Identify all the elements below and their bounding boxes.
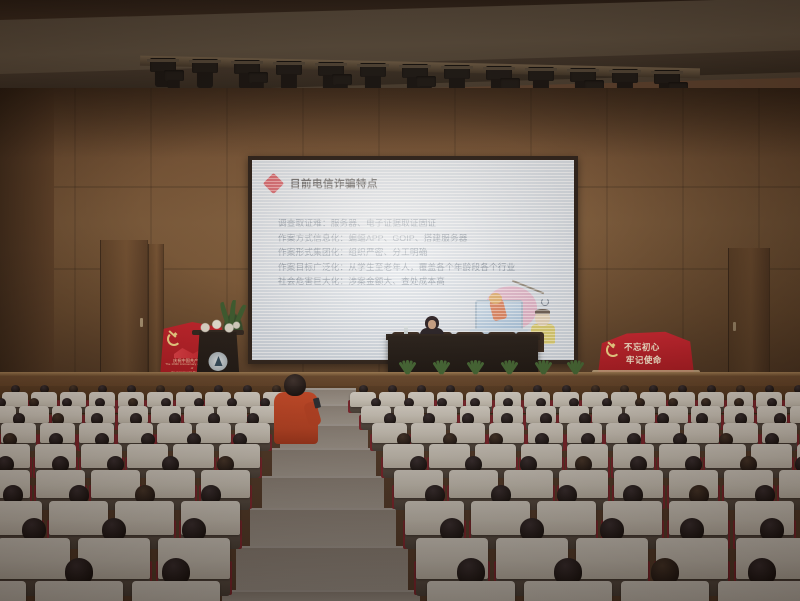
- stage-light-2: [192, 59, 218, 73]
- cartoon-thief-hair: [489, 293, 502, 304]
- slide-title: 目前电信诈骗特点: [290, 176, 378, 191]
- stage-light-6: [360, 63, 386, 77]
- cartoon-victim-hair: [535, 309, 550, 314]
- school-emblem-icon: [209, 352, 228, 371]
- banner-line-1: 不忘初心: [624, 341, 660, 353]
- projection-screen: 目前电信诈骗特点 调查取证难：服务器、电子证据取证固证作案方式信息化：蝙蝠APP…: [252, 160, 574, 360]
- aisle-step-6: [250, 508, 396, 546]
- seat-cover[interactable]: [779, 470, 800, 498]
- stage-light-12: [612, 69, 638, 83]
- podium-flowers: [196, 318, 242, 334]
- seat-cover[interactable]: [173, 444, 214, 468]
- cartoon-hook-icon: [541, 298, 549, 306]
- seat-cover[interactable]: [35, 581, 123, 601]
- aisle-step-4: [272, 448, 376, 476]
- seat-cover[interactable]: [684, 423, 719, 443]
- standing-attendee-head: [284, 374, 306, 396]
- seat-cover[interactable]: [411, 423, 446, 443]
- auditorium-photo: 目前电信诈骗特点 调查取证难：服务器、电子证据取证固证作案方式信息化：蝙蝠APP…: [0, 0, 800, 601]
- hammer-sickle-icon-banner: [605, 342, 617, 354]
- aisle-step-edge-7: [236, 546, 408, 548]
- slide-line-1: 调查取证难：服务器、电子证据取证固证: [278, 216, 564, 231]
- stage-light-10: [528, 67, 554, 81]
- stage-light-8: [444, 65, 470, 79]
- seat-cover[interactable]: [524, 581, 612, 601]
- seat-cover[interactable]: [0, 538, 70, 579]
- seat-cover[interactable]: [91, 470, 140, 498]
- stage-light-4: [276, 61, 302, 75]
- seat-cover[interactable]: [394, 406, 424, 423]
- slide-bullet-diamond-icon: [263, 173, 284, 194]
- stage-light-lower-1: [164, 70, 184, 81]
- seat-cover[interactable]: [196, 423, 231, 443]
- standing-attendee: [272, 374, 320, 452]
- seat-cover[interactable]: [0, 581, 26, 601]
- seat-cover[interactable]: [790, 406, 800, 423]
- slide-line-3: 作案形式集团化：组织严密、分工明确: [278, 245, 564, 260]
- stage-light-lower-3: [248, 72, 268, 83]
- stage-edge-plant-5: [534, 358, 550, 374]
- slide-line-2: 作案方式信息化：蝙蝠APP、GOIP、搭建服务器: [278, 231, 564, 246]
- seat-cover[interactable]: [427, 581, 515, 601]
- seat-cover[interactable]: [379, 392, 405, 407]
- stage-edge-plant-3: [466, 358, 482, 374]
- seat-cover[interactable]: [785, 392, 800, 407]
- seat-cover[interactable]: [132, 581, 220, 601]
- seat-cover[interactable]: [751, 444, 792, 468]
- slide-line-4: 作案目标广泛化：从学生至老年人，覆盖各个年龄段各个行业: [278, 260, 564, 275]
- stage-edge-plant-6: [566, 358, 582, 374]
- hammer-sickle-icon: [166, 331, 179, 344]
- seat-cover[interactable]: [234, 392, 260, 407]
- seat-cover[interactable]: [217, 406, 247, 423]
- aisle-step-5: [262, 476, 384, 508]
- banner-line-2: 牢记使命: [626, 354, 662, 366]
- seat-cover[interactable]: [429, 444, 470, 468]
- stage-light-lower-7: [416, 76, 436, 87]
- seat-cover[interactable]: [611, 392, 637, 407]
- seat-cover[interactable]: [504, 470, 553, 498]
- slide-body-text: 调查取证难：服务器、电子证据取证固证作案方式信息化：蝙蝠APP、GOIP、搭建服…: [278, 216, 564, 289]
- stage-edge-plant-2: [432, 358, 448, 374]
- seat-cover[interactable]: [576, 538, 648, 579]
- stage-light-lower-5: [332, 74, 352, 85]
- seat-cover[interactable]: [625, 406, 655, 423]
- aisle-step-edge-8: [222, 590, 420, 592]
- aisle-step-edge-5: [262, 476, 384, 478]
- aisle-step-edge-6: [250, 508, 396, 510]
- seat-cover[interactable]: [49, 501, 108, 535]
- aisle-step-7: [236, 546, 408, 590]
- seat-cover[interactable]: [621, 581, 709, 601]
- seat-cover[interactable]: [537, 501, 596, 535]
- stage-edge-plant-4: [500, 358, 516, 374]
- stage-edge-plant-1: [398, 358, 414, 374]
- speaker-face: [428, 320, 436, 329]
- phone-icon: [313, 397, 321, 408]
- seat-cover[interactable]: [718, 581, 800, 601]
- seat-cover[interactable]: [2, 392, 28, 407]
